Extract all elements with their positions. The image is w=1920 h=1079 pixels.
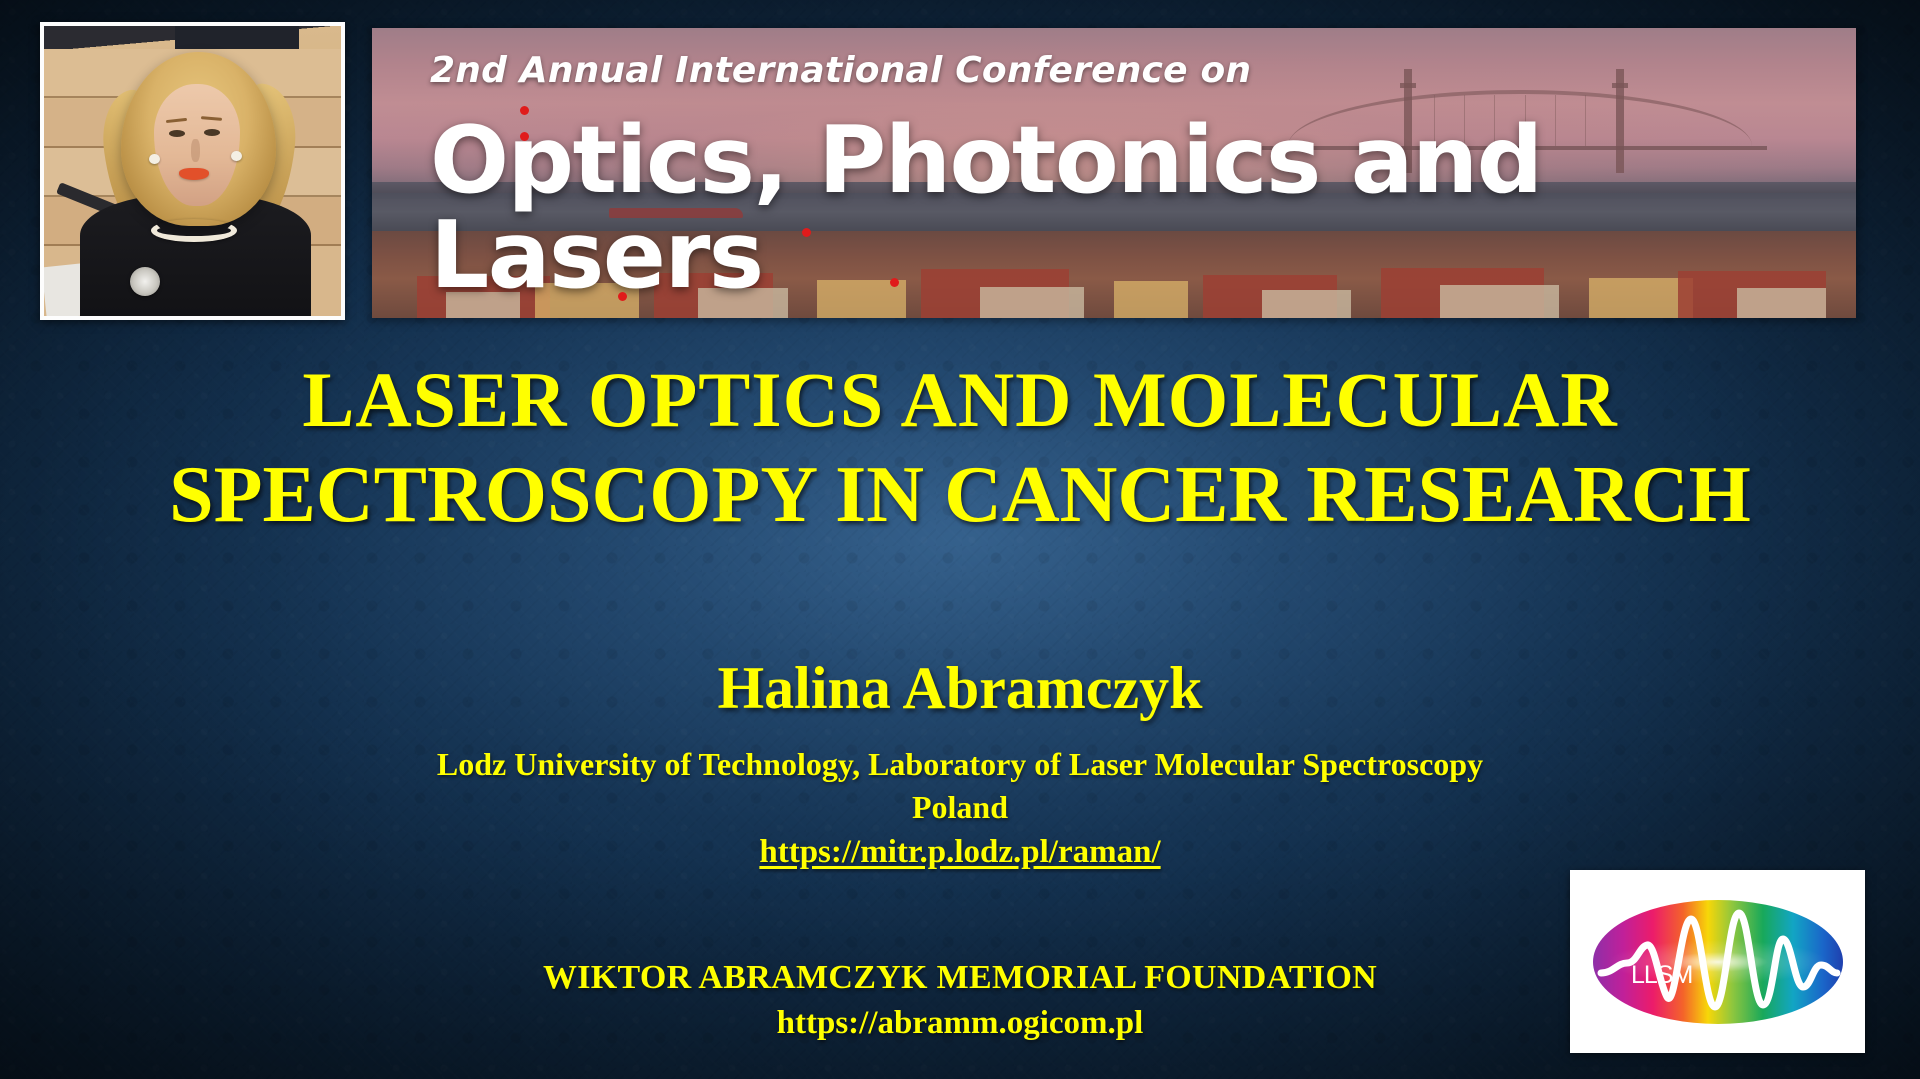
llsm-logo-card: LLSM	[1570, 870, 1865, 1053]
accent-dot-icon	[520, 106, 529, 115]
author-name: Halina Abramczyk	[0, 655, 1920, 721]
laboratory-url-link[interactable]: https://mitr.p.lodz.pl/raman/	[759, 834, 1160, 871]
slide-title-line-1: LASER OPTICS AND MOLECULAR	[0, 352, 1920, 447]
pearl-earring-right	[231, 151, 242, 161]
slide-title: LASER OPTICS AND MOLECULAR SPECTROSCOPY …	[0, 352, 1920, 545]
svg-text:LLSM: LLSM	[1631, 961, 1692, 989]
brooch-icon	[130, 267, 160, 296]
banner-kicker: 2nd Annual International Conference on	[430, 50, 1856, 91]
accent-dot-icon	[520, 132, 529, 141]
slide-title-line-2: SPECTROSCOPY IN CANCER RESEARCH	[0, 447, 1920, 545]
background-screen	[175, 26, 300, 49]
speaker-portrait-image	[44, 26, 341, 316]
author-country: Poland	[0, 786, 1920, 829]
llsm-logo-icon: LLSM	[1587, 887, 1849, 1037]
accent-dot-icon	[802, 228, 811, 237]
pearl-necklace	[151, 219, 237, 242]
speaker-photo-frame	[40, 22, 345, 320]
accent-dot-icon	[890, 278, 899, 287]
conference-banner: 2nd Annual International Conference on O…	[372, 28, 1856, 318]
nose	[191, 139, 200, 162]
author-block: Halina Abramczyk Lodz University of Tech…	[0, 655, 1920, 871]
pearl-earring-left	[149, 154, 160, 164]
banner-title: Optics, Photonics and Lasers	[430, 113, 1856, 303]
author-affiliation: Lodz University of Technology, Laborator…	[0, 743, 1920, 786]
accent-dot-icon	[618, 292, 627, 301]
presentation-slide: 2nd Annual International Conference on O…	[0, 0, 1920, 1079]
